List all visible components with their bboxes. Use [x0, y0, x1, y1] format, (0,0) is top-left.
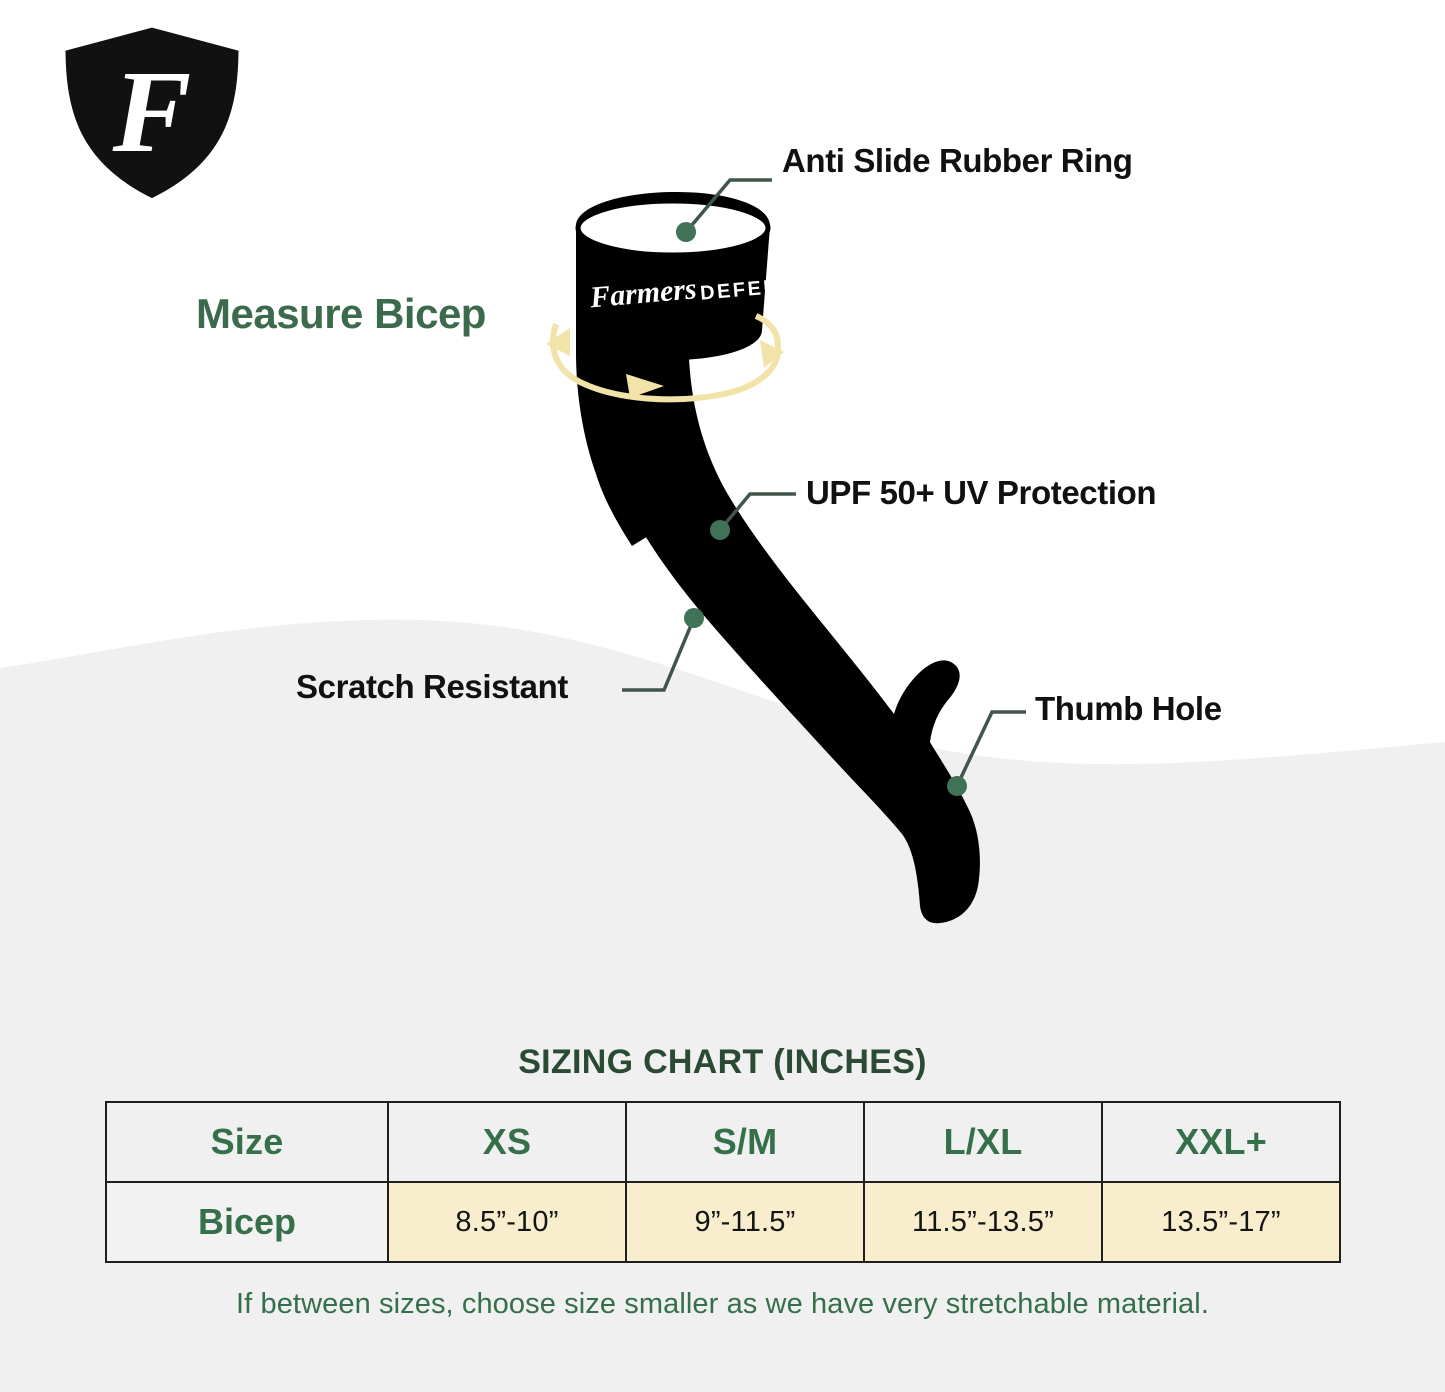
- callout-label-scratch-resistant: Scratch Resistant: [296, 668, 568, 706]
- table-cell-bicep-sm: 9”-11.5”: [626, 1182, 864, 1262]
- table-header-lxl: L/XL: [864, 1102, 1102, 1182]
- leader-thumb: [957, 712, 1026, 786]
- sizing-chart-table: Size XS S/M L/XL XXL+ Bicep 8.5”-10” 9”-…: [105, 1101, 1341, 1263]
- sleeve-wordmark-block: DEFENSE: [699, 273, 812, 305]
- callout-label-anti-slide-rubber-ring: Anti Slide Rubber Ring: [782, 142, 1133, 180]
- dot-scratch-resistant: [684, 608, 704, 628]
- callout-label-thumb-hole: Thumb Hole: [1035, 690, 1222, 728]
- dot-anti-slide-rubber-ring: [676, 222, 696, 242]
- table-cell-bicep-xs: 8.5”-10”: [388, 1182, 626, 1262]
- dot-thumb-hole: [947, 776, 967, 796]
- callout-label-upf-uv-protection: UPF 50+ UV Protection: [806, 474, 1156, 512]
- measure-bicep-label: Measure Bicep: [196, 290, 486, 338]
- measure-arrowheads: [546, 328, 784, 398]
- table-cell-bicep-xxl: 13.5”-17”: [1102, 1182, 1340, 1262]
- sleeve-silhouette: [576, 192, 980, 923]
- leader-anti-slide: [686, 180, 772, 232]
- table-header-xxl: XXL+: [1102, 1102, 1340, 1182]
- table-header-row: Size XS S/M L/XL XXL+: [106, 1102, 1340, 1182]
- leader-scratch: [622, 618, 694, 690]
- sizing-chart-title: SIZING CHART (INCHES): [0, 1043, 1445, 1082]
- sleeve-wordmark-script: Farmers: [588, 272, 698, 314]
- sizing-guide-page: F Farmers DEFENSE: [0, 0, 1445, 1392]
- table-row-label-bicep: Bicep: [106, 1182, 388, 1262]
- table-header-size: Size: [106, 1102, 388, 1182]
- table-cell-bicep-lxl: 11.5”-13.5”: [864, 1182, 1102, 1262]
- table-header-xs: XS: [388, 1102, 626, 1182]
- sleeve-opening: [578, 201, 768, 255]
- bicep-measure-arrow-icon: [553, 316, 778, 399]
- sizing-chart-note: If between sizes, choose size smaller as…: [0, 1288, 1445, 1321]
- table-header-sm: S/M: [626, 1102, 864, 1182]
- table-row: Bicep 8.5”-10” 9”-11.5” 11.5”-13.5” 13.5…: [106, 1182, 1340, 1262]
- shield-logo-icon: F: [52, 18, 252, 208]
- shield-logo-letter: F: [112, 46, 192, 177]
- leader-upf: [720, 494, 796, 530]
- sleeve-wordmark: Farmers DEFENSE: [588, 262, 813, 314]
- dot-upf-uv-protection: [710, 520, 730, 540]
